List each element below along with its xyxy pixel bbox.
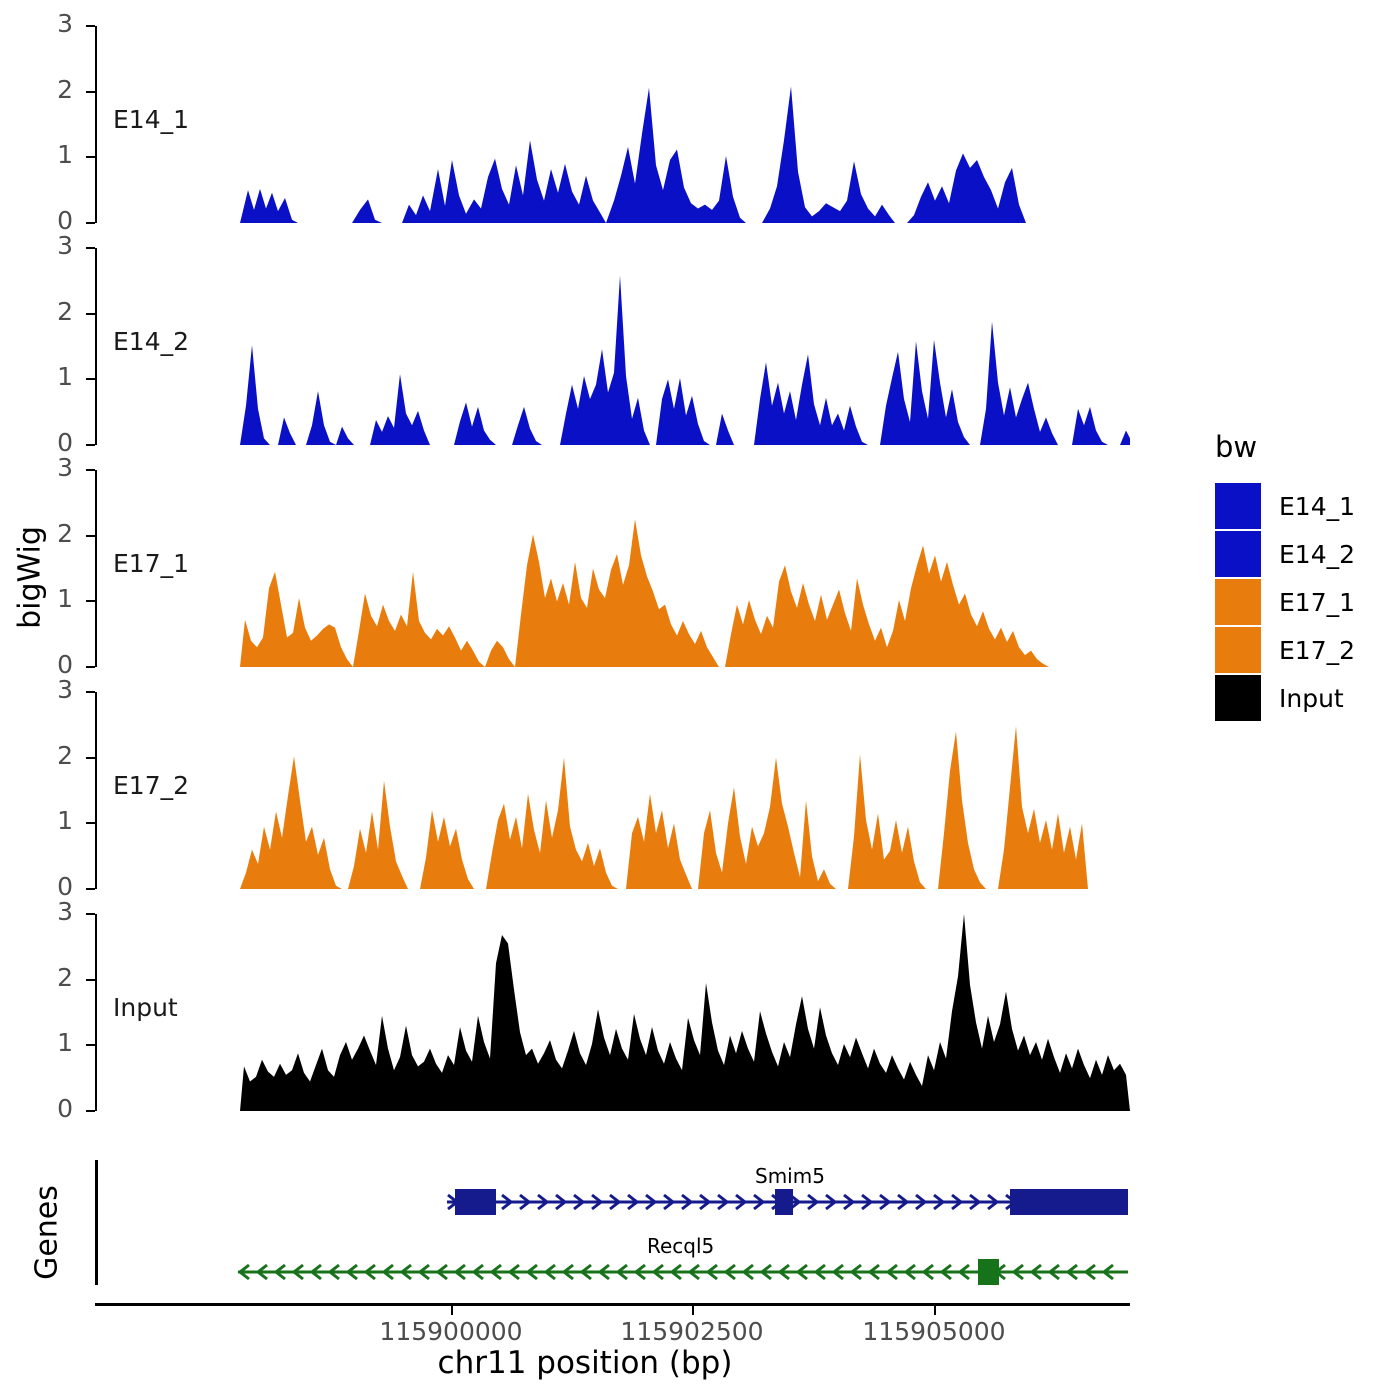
y-tick — [86, 444, 95, 446]
y-tick-label: 1 — [33, 1030, 73, 1055]
track-panel-e14_1: 0123E14_1 — [95, 26, 1130, 223]
coverage-area-e17_1 — [97, 470, 1132, 669]
legend-item-label: E17_2 — [1279, 636, 1355, 665]
y-tick-label: 3 — [33, 677, 73, 702]
genes-panel: Smim5 Recql5 — [95, 1160, 1130, 1305]
y-tick-label: 2 — [33, 743, 73, 768]
y-tick-label: 2 — [33, 299, 73, 324]
y-tick-label: 0 — [33, 208, 73, 233]
legend: bw E14_1E14_2E17_1E17_2Input — [1215, 430, 1395, 722]
gene-models — [95, 1160, 1130, 1290]
track-panel-input: 0123Input — [95, 914, 1130, 1111]
legend-color-swatch — [1215, 579, 1261, 625]
x-tick-label: 115905000 — [824, 1317, 1044, 1346]
legend-item-e17_2[interactable]: E17_2 — [1215, 626, 1395, 674]
legend-item-e17_1[interactable]: E17_1 — [1215, 578, 1395, 626]
y-tick — [86, 979, 95, 981]
y-tick — [86, 757, 95, 759]
exon-box — [455, 1189, 496, 1215]
y-tick-label: 1 — [33, 586, 73, 611]
track-panel-e17_1: 0123E17_1 — [95, 470, 1130, 667]
legend-color-swatch — [1215, 483, 1261, 529]
y-tick-label: 0 — [33, 1096, 73, 1121]
y-tick-label: 2 — [33, 521, 73, 546]
y-tick — [86, 888, 95, 890]
y-tick-label: 3 — [33, 11, 73, 36]
gene-label-recql5: Recql5 — [647, 1234, 714, 1258]
y-tick — [86, 25, 95, 27]
y-tick — [86, 1110, 95, 1112]
legend-items: E14_1E14_2E17_1E17_2Input — [1215, 482, 1395, 722]
genome-browser-figure: bigWig Genes chr11 position (bp) 0123E14… — [0, 0, 1400, 1400]
legend-item-label: E17_1 — [1279, 588, 1355, 617]
track-panel-e17_2: 0123E17_2 — [95, 692, 1130, 889]
y-tick — [86, 378, 95, 380]
y-tick — [86, 691, 95, 693]
legend-color-swatch — [1215, 627, 1261, 673]
coverage-area-e14_1 — [97, 26, 1132, 225]
legend-color-swatch — [1215, 675, 1261, 721]
x-tick-label: 115900000 — [341, 1317, 561, 1346]
y-tick — [86, 1044, 95, 1046]
x-axis-line — [95, 1303, 1130, 1306]
y-tick-label: 0 — [33, 652, 73, 677]
y-tick-label: 3 — [33, 233, 73, 258]
y-tick — [86, 469, 95, 471]
y-tick — [86, 156, 95, 158]
gene-label-smim5: Smim5 — [755, 1164, 825, 1188]
exon-box — [775, 1189, 793, 1215]
y-tick — [86, 313, 95, 315]
y-tick-label: 2 — [33, 77, 73, 102]
x-tick — [692, 1306, 694, 1315]
y-tick — [86, 666, 95, 668]
y-tick — [86, 600, 95, 602]
legend-item-e14_2[interactable]: E14_2 — [1215, 530, 1395, 578]
x-tick — [934, 1306, 936, 1315]
y-tick-label: 0 — [33, 874, 73, 899]
x-tick — [451, 1306, 453, 1315]
track-panel-e14_2: 0123E14_2 — [95, 248, 1130, 445]
legend-item-label: Input — [1279, 684, 1344, 713]
y-tick-label: 2 — [33, 965, 73, 990]
y-tick — [86, 913, 95, 915]
legend-item-label: E14_1 — [1279, 492, 1355, 521]
legend-item-label: E14_2 — [1279, 540, 1355, 569]
genes-axis-line — [95, 1160, 98, 1285]
y-tick — [86, 247, 95, 249]
y-tick-label: 3 — [33, 899, 73, 924]
x-tick-label: 115902500 — [582, 1317, 802, 1346]
legend-color-swatch — [1215, 531, 1261, 577]
coverage-area-input — [97, 914, 1132, 1113]
y-tick-label: 1 — [33, 364, 73, 389]
y-tick — [86, 222, 95, 224]
y-tick — [86, 822, 95, 824]
y-tick-label: 1 — [33, 808, 73, 833]
x-axis: 115900000115902500115905000 — [95, 1303, 1130, 1363]
legend-item-input[interactable]: Input — [1215, 674, 1395, 722]
y-tick-label: 3 — [33, 455, 73, 480]
y-tick-label: 0 — [33, 430, 73, 455]
exon-box — [1010, 1189, 1128, 1215]
coverage-area-e17_2 — [97, 692, 1132, 891]
legend-item-e14_1[interactable]: E14_1 — [1215, 482, 1395, 530]
y-tick — [86, 91, 95, 93]
legend-title: bw — [1215, 430, 1395, 464]
y-tick — [86, 535, 95, 537]
y-tick-label: 1 — [33, 142, 73, 167]
exon-box — [978, 1259, 999, 1285]
coverage-area-e14_2 — [97, 248, 1132, 447]
